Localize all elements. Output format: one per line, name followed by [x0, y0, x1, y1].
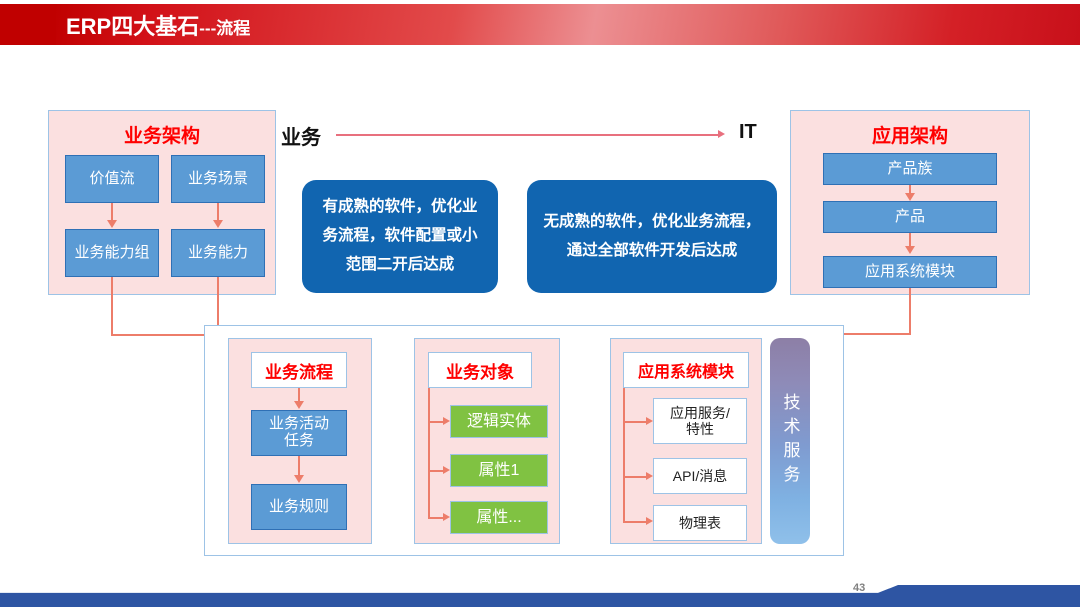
slide-footer-bar [0, 585, 1080, 607]
arrow-am-to-table [646, 517, 653, 525]
page-title-main: ERP四大基石 [66, 14, 199, 39]
arrow-activity-to-rule [294, 475, 304, 483]
connector-left-drop-a [111, 277, 113, 335]
arrow-value-stream-to-group [107, 220, 117, 228]
bottom-box-logical-entity[interactable]: 逻辑实体 [450, 405, 548, 438]
arrow-bo-to-attr1 [443, 466, 450, 474]
arrow-bo-to-attrn [443, 513, 450, 521]
page-title: ERP四大基石---流程 [66, 9, 250, 41]
box-product-family[interactable]: 产品族 [823, 153, 997, 185]
box-application-system-module[interactable]: 应用系统模块 [823, 256, 997, 288]
bottom-box-attribute-n[interactable]: 属性... [450, 501, 548, 534]
box-business-capability[interactable]: 业务能力 [171, 229, 265, 277]
connector-right-drop [909, 288, 911, 334]
connector-scenario-to-capability [217, 203, 219, 221]
arrow-scenario-to-capability [213, 220, 223, 228]
callout-mature-software: 有成熟的软件，优化业务流程，软件配置或小范围二开后达成 [302, 180, 498, 293]
connector-bp-title-to-activity [298, 388, 300, 402]
connector-product-to-module [909, 233, 911, 247]
bottom-box-attribute-1[interactable]: 属性1 [450, 454, 548, 487]
arrow-am-to-service [646, 417, 653, 425]
page-number: 43 [853, 582, 865, 594]
axis-label-business: 业务 [281, 121, 321, 150]
box-value-stream[interactable]: 价值流 [65, 155, 159, 203]
connector-bo-bracket [428, 388, 430, 518]
connector-am-bracket [623, 388, 625, 521]
arrow-am-to-api [646, 472, 653, 480]
tech-service-bar[interactable]: 技术服务 [770, 338, 810, 544]
connector-value-stream-to-group [111, 203, 113, 221]
page-title-sub: ---流程 [199, 19, 250, 38]
axis-label-it: IT [739, 121, 757, 144]
bottom-title-application-module[interactable]: 应用系统模块 [623, 352, 749, 388]
connector-activity-to-rule [298, 456, 300, 476]
arrow-family-to-product [905, 193, 915, 201]
connector-am-to-table [623, 521, 648, 523]
bottom-title-business-process[interactable]: 业务流程 [251, 352, 347, 388]
axis-arrow-line [336, 134, 720, 136]
box-product[interactable]: 产品 [823, 201, 997, 233]
bottom-box-application-service[interactable]: 应用服务/ 特性 [653, 398, 747, 444]
arrow-bp-title-to-activity [294, 401, 304, 409]
bottom-title-business-object[interactable]: 业务对象 [428, 352, 532, 388]
box-business-capability-group[interactable]: 业务能力组 [65, 229, 159, 277]
callout-no-mature-software: 无成熟的软件，优化业务流程，通过全部软件开发后达成 [527, 180, 777, 293]
bottom-box-api-message[interactable]: API/消息 [653, 458, 747, 494]
connector-am-to-service [623, 421, 648, 423]
bottom-box-physical-table[interactable]: 物理表 [653, 505, 747, 541]
connector-am-to-api [623, 476, 648, 478]
arrow-bo-to-entity [443, 417, 450, 425]
application-architecture-title: 应用架构 [791, 121, 1029, 148]
business-architecture-title: 业务架构 [49, 121, 275, 148]
bottom-box-business-activity-task[interactable]: 业务活动 任务 [251, 410, 347, 456]
box-business-scenario[interactable]: 业务场景 [171, 155, 265, 203]
axis-arrow-head [718, 130, 725, 138]
bottom-box-business-rule[interactable]: 业务规则 [251, 484, 347, 530]
arrow-product-to-module [905, 246, 915, 254]
